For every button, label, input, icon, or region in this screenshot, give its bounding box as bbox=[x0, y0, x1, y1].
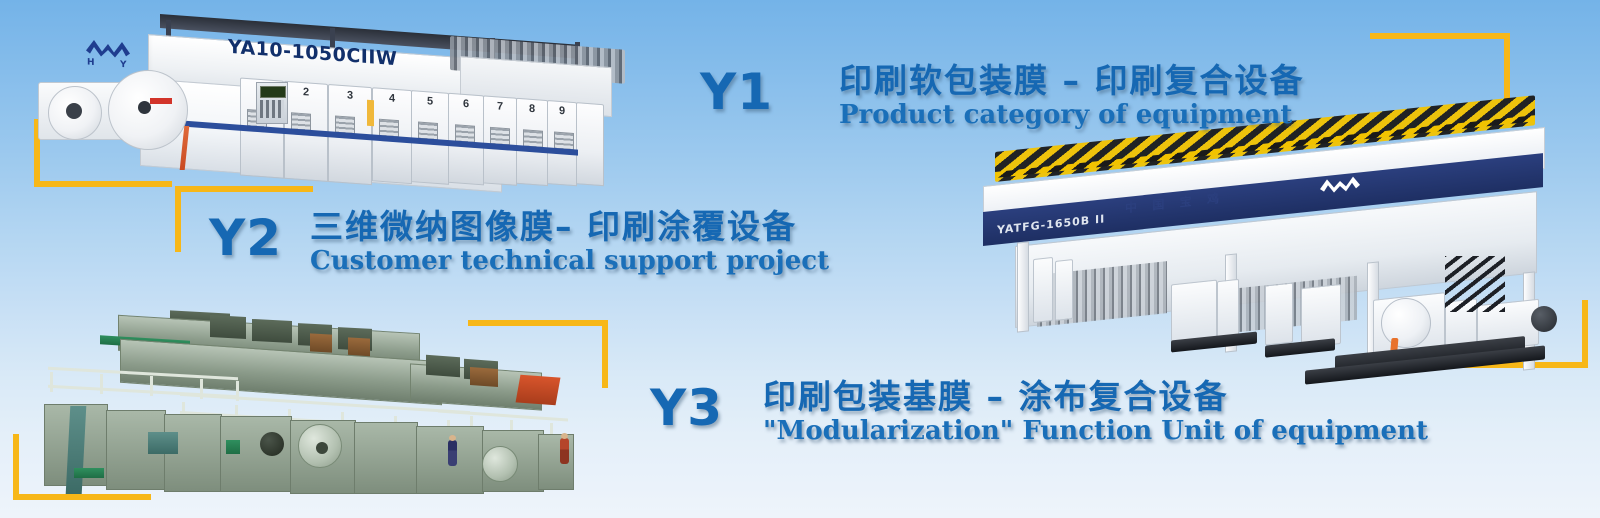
promo-banner: H Y YA10-1050CIIW 1 2 3 4 5 6 7 8 9 bbox=[0, 0, 1600, 518]
entry-y3-english: "Modularization" Function Unit of equipm… bbox=[763, 416, 1428, 446]
svg-text:Y: Y bbox=[119, 60, 127, 70]
entry-y1: Y1 印刷软包装膜 – 印刷复合设备 Product category of e… bbox=[700, 66, 1304, 130]
entry-y2: Y2 三维微纳图像膜– 印刷涂覆设备 Customer technical su… bbox=[209, 212, 829, 276]
entry-y1-english: Product category of equipment bbox=[839, 100, 1304, 130]
press-yellow-marker bbox=[367, 100, 374, 127]
machine-image-rotogravure-press: H Y YA10-1050CIIW 1 2 3 4 5 6 7 8 9 bbox=[30, 8, 600, 183]
entry-y3-chinese: 印刷包装基膜 – 涂布复合设备 bbox=[763, 378, 1428, 416]
entry-y2-code: Y2 bbox=[209, 212, 282, 264]
operator-figure bbox=[448, 440, 457, 466]
press-roll-core bbox=[66, 103, 82, 119]
entry-y2-chinese: 三维微纳图像膜– 印刷涂覆设备 bbox=[310, 208, 829, 246]
entry-y3: Y3 印刷包装基膜 – 涂布复合设备 "Modularization" Func… bbox=[650, 382, 1428, 446]
machine-image-coating-laminating: YATFG-1650B II 中 国 宝 鸡 bbox=[975, 150, 1590, 365]
press-brand-logo: H Y bbox=[82, 36, 134, 70]
entry-y3-code: Y3 bbox=[650, 382, 723, 434]
entry-y2-english: Customer technical support project bbox=[310, 246, 829, 276]
svg-text:H: H bbox=[87, 57, 95, 68]
entry-y1-code: Y1 bbox=[700, 66, 773, 118]
entry-y1-chinese: 印刷软包装膜 – 印刷复合设备 bbox=[839, 62, 1304, 100]
machine-image-coating-line bbox=[30, 310, 575, 490]
press-control-console bbox=[256, 82, 288, 124]
operator-figure-2 bbox=[560, 438, 569, 464]
